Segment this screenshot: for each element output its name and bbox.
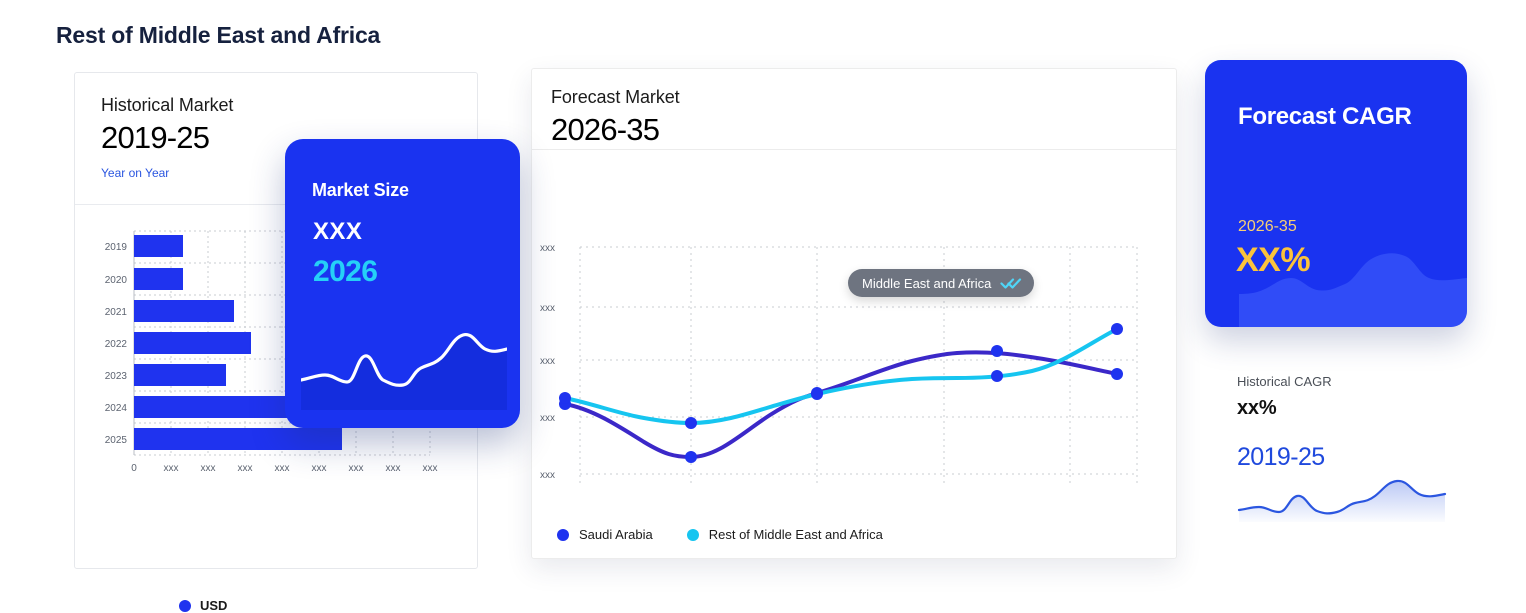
svg-text:2019: 2019: [105, 242, 128, 253]
historical-legend[interactable]: USD: [179, 598, 227, 613]
page-title: Rest of Middle East and Africa: [56, 22, 380, 49]
svg-text:xxx: xxx: [540, 470, 555, 481]
svg-text:2022: 2022: [105, 339, 128, 350]
bar-2021: [134, 300, 234, 322]
legend-label-usd: USD: [200, 598, 227, 613]
series-line-rest-of-mea: [565, 329, 1117, 423]
bar-2019: [134, 235, 183, 257]
legend-item-rest-of-mea[interactable]: Rest of Middle East and Africa: [687, 527, 883, 542]
svg-text:xxx: xxx: [386, 463, 401, 474]
forecast-market-header: Forecast Market 2026-35: [532, 69, 1176, 148]
legend-dot-usd: [179, 600, 191, 612]
svg-text:xxx: xxx: [238, 463, 253, 474]
point-saudi-2035: [1111, 368, 1123, 380]
svg-text:xxx: xxx: [423, 463, 438, 474]
legend-dot-saudi-arabia: [557, 529, 569, 541]
point-rest-2028: [685, 417, 697, 429]
double-check-icon: [1000, 276, 1022, 290]
forecast-market-period: 2026-35: [551, 112, 1176, 148]
legend-dot-rest-of-mea: [687, 529, 699, 541]
svg-text:xxx: xxx: [201, 463, 216, 474]
chart-tooltip[interactable]: Middle East and Africa: [848, 269, 1034, 297]
legend-item-saudi-arabia[interactable]: Saudi Arabia: [557, 527, 653, 542]
point-rest-2035: [1111, 323, 1123, 335]
historical-cagr-sparkline: [1237, 474, 1447, 522]
forecast-card-divider: [532, 149, 1176, 150]
market-size-title: Market Size: [312, 180, 409, 201]
svg-text:xxx: xxx: [540, 356, 555, 367]
svg-text:2021: 2021: [105, 307, 128, 318]
series-line-saudi-arabia: [565, 352, 1117, 457]
market-size-card[interactable]: Market Size XXX 2026: [285, 139, 520, 428]
forecast-cagr-sparkline: [1205, 222, 1467, 327]
forecast-market-card: Forecast Market 2026-35: [531, 68, 1177, 559]
bar-2020: [134, 268, 183, 290]
svg-text:xxx: xxx: [540, 303, 555, 314]
chart-tooltip-label: Middle East and Africa: [862, 276, 991, 291]
bar-2025: [134, 428, 342, 450]
point-saudi-2028: [685, 451, 697, 463]
svg-text:0: 0: [131, 463, 137, 474]
market-size-value: XXX: [313, 218, 362, 246]
forecast-legend[interactable]: Saudi Arabia Rest of Middle East and Afr…: [557, 527, 883, 542]
historical-market-kicker: Historical Market: [101, 95, 477, 116]
market-size-sparkline: [301, 318, 507, 410]
svg-text:xxx: xxx: [275, 463, 290, 474]
svg-text:xxx: xxx: [164, 463, 179, 474]
svg-text:2024: 2024: [105, 403, 128, 414]
point-rest-2033: [991, 370, 1003, 382]
historical-cagr-value: xx%: [1237, 397, 1487, 420]
point-rest-2030: [811, 388, 823, 400]
point-rest-2026: [559, 392, 571, 404]
forecast-cagr-title: Forecast CAGR: [1238, 103, 1411, 131]
historical-cagr-title: Historical CAGR: [1237, 374, 1487, 389]
legend-label-rest-of-mea: Rest of Middle East and Africa: [709, 527, 883, 542]
bar-2022: [134, 332, 251, 354]
svg-text:2020: 2020: [105, 275, 128, 286]
svg-text:2023: 2023: [105, 371, 128, 382]
market-size-year: 2026: [313, 255, 377, 289]
bar-2023: [134, 364, 226, 386]
svg-text:xxx: xxx: [540, 413, 555, 424]
legend-label-saudi-arabia: Saudi Arabia: [579, 527, 653, 542]
historical-cagr-block: Historical CAGR xx% 2019-25: [1237, 374, 1487, 522]
svg-text:xxx: xxx: [312, 463, 327, 474]
forecast-cagr-card[interactable]: Forecast CAGR 2026-35 XX%: [1205, 60, 1467, 327]
forecast-market-kicker: Forecast Market: [551, 87, 1176, 108]
historical-cagr-period: 2019-25: [1237, 443, 1487, 472]
svg-text:xxx: xxx: [540, 243, 555, 254]
svg-text:xxx: xxx: [349, 463, 364, 474]
svg-text:2025: 2025: [105, 435, 128, 446]
point-saudi-2033: [991, 345, 1003, 357]
forecast-line-chart[interactable]: xxx xxx xxx xxx xxx 0 2026 2027 2028 202…: [532, 157, 1178, 487]
